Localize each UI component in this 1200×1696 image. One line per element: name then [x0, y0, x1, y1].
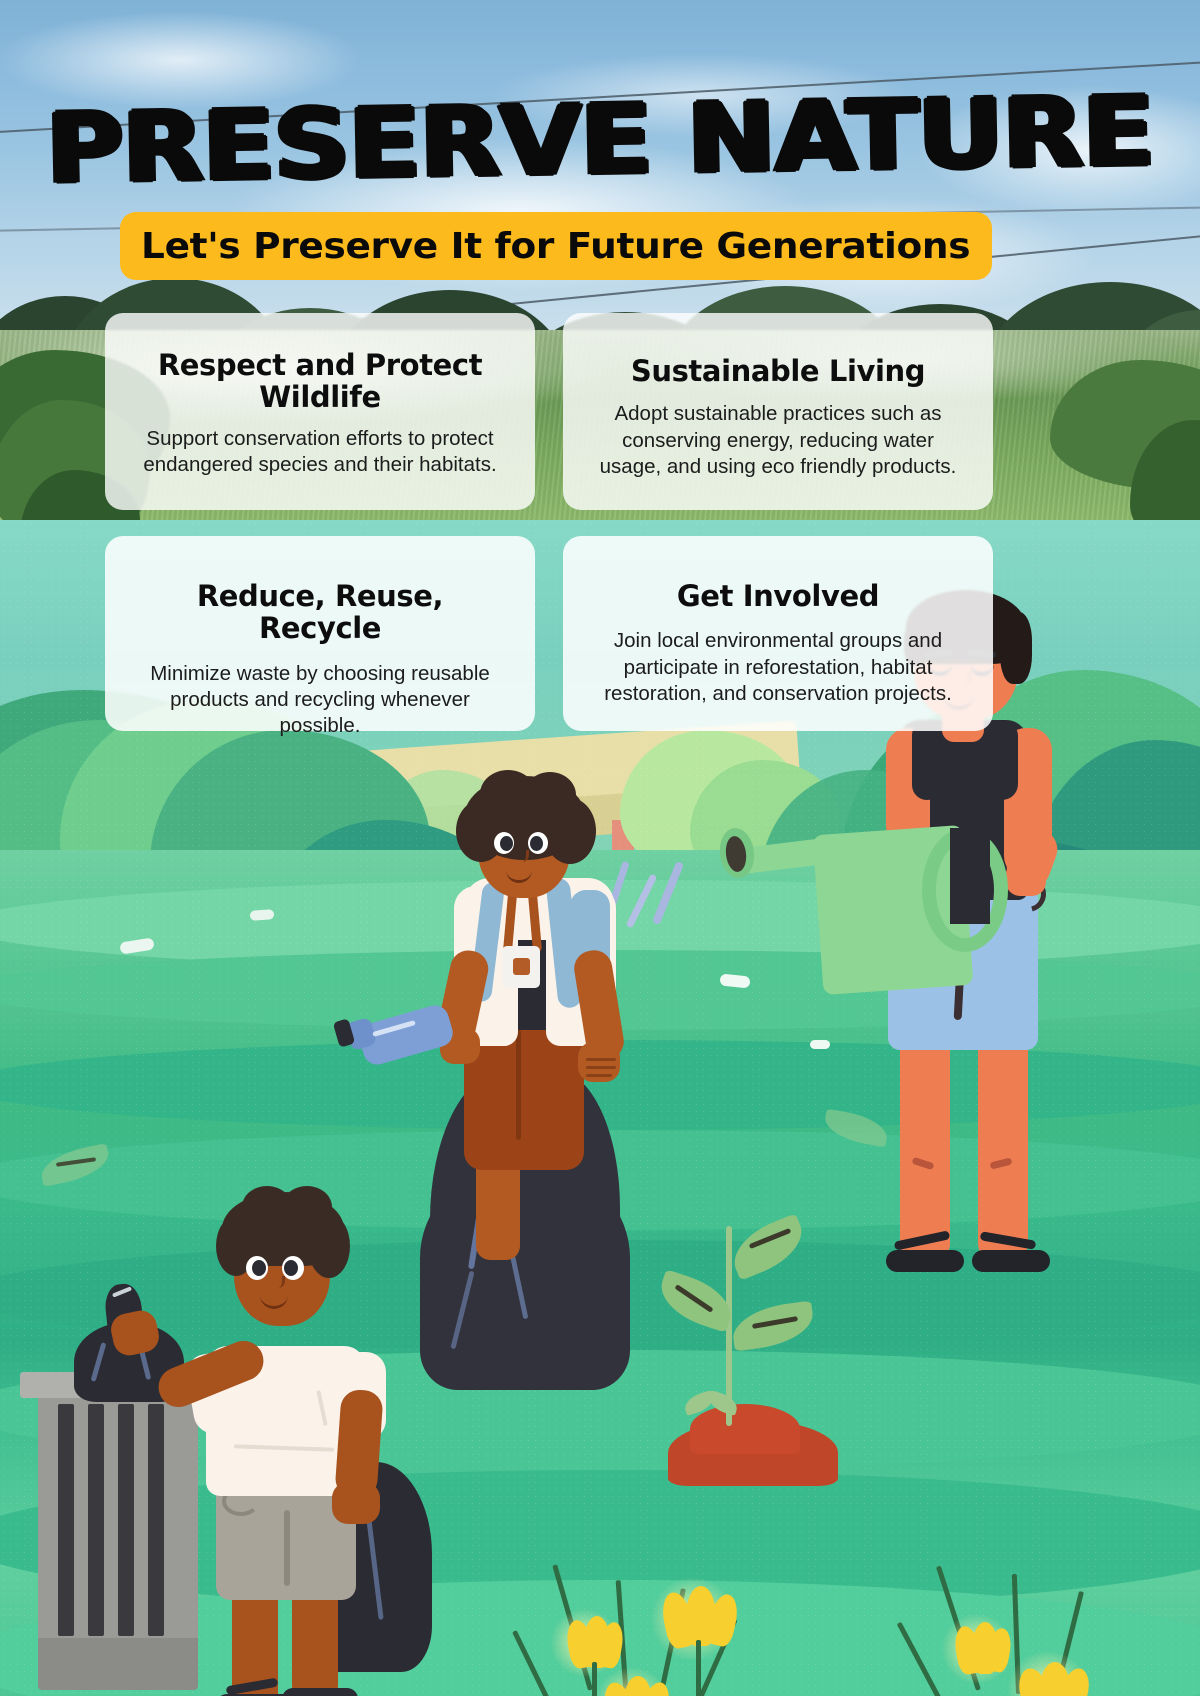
card-body: Support conservation efforts to protect … — [131, 426, 509, 478]
figure-child-with-trash-bag — [20, 1090, 420, 1696]
card-heading: Sustainable Living — [589, 355, 967, 387]
flower-cluster-left — [540, 1550, 760, 1696]
subtitle-banner: Let's Preserve It for Future Generations — [120, 212, 992, 280]
sandal-icon — [886, 1250, 964, 1272]
card-heading: Reduce, Reuse, Recycle — [131, 580, 509, 645]
card-body: Minimize waste by choosing reusable prod… — [131, 661, 509, 739]
subtitle-text: Let's Preserve It for Future Generations — [141, 226, 970, 267]
card-heading: Respect and Protect Wildlife — [131, 349, 509, 414]
tip-card-get-involved: Get Involved Join local environmental gr… — [563, 536, 993, 731]
hand — [1006, 860, 1046, 896]
sandal-icon — [282, 1688, 358, 1696]
tip-card-respect-and-protect-wildlife: Respect and Protect Wildlife Support con… — [105, 313, 535, 510]
page-title: PRESERVE NATURE — [0, 86, 1200, 195]
card-body: Adopt sustainable practices such as cons… — [589, 401, 967, 479]
litter — [250, 909, 275, 921]
figure-volunteer-with-bottle — [420, 770, 680, 1330]
card-heading: Get Involved — [589, 580, 967, 612]
garbage-bag — [420, 1170, 630, 1390]
sandal-icon — [972, 1250, 1050, 1272]
tip-card-reduce-reuse-recycle: Reduce, Reuse, Recycle Minimize waste by… — [105, 536, 535, 731]
soil-mound — [690, 1404, 800, 1454]
tip-card-sustainable-living: Sustainable Living Adopt sustainable pra… — [563, 313, 993, 510]
poster-root: PRESERVE NATURE Let's Preserve It for Fu… — [0, 0, 1200, 1696]
flower-cluster-right — [920, 1560, 1120, 1696]
litter — [810, 1040, 830, 1049]
card-body: Join local environmental groups and part… — [589, 628, 967, 706]
hand — [332, 1482, 380, 1524]
